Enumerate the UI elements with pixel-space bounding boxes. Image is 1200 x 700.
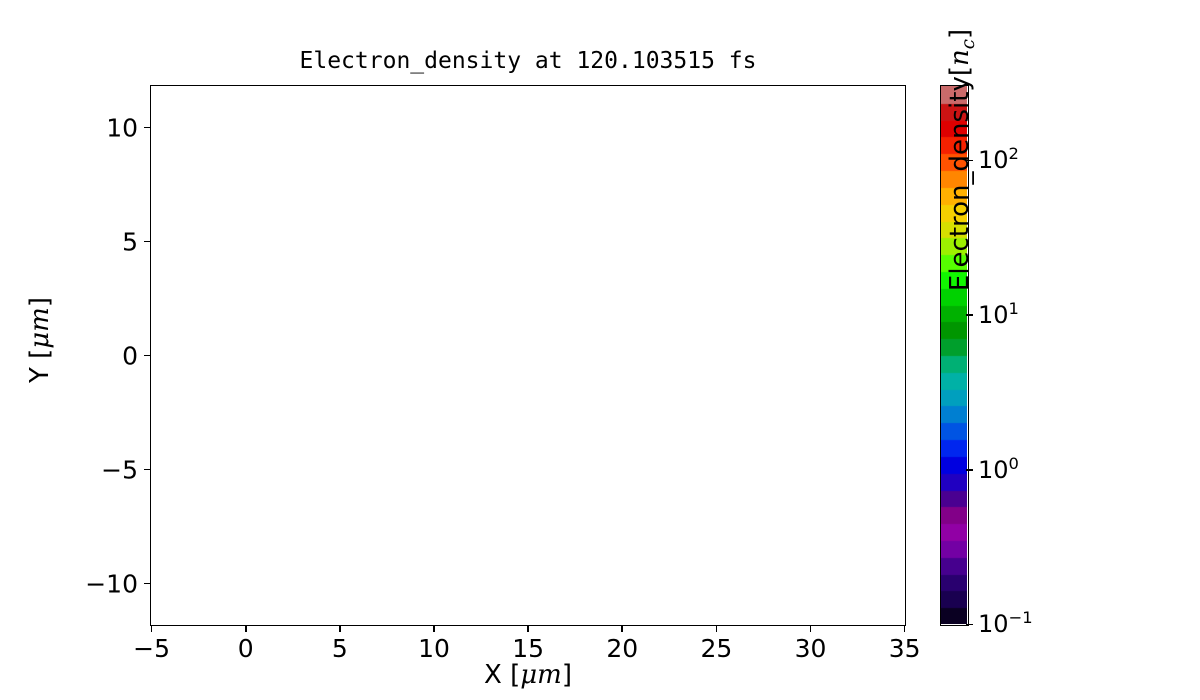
x-tick-label: 5 xyxy=(332,634,348,663)
y-tick-label: 10 xyxy=(20,113,138,142)
x-tick-label: 25 xyxy=(700,634,732,663)
y-tick-mark xyxy=(144,127,151,129)
x-tick-mark xyxy=(716,625,718,632)
x-tick-label: −5 xyxy=(133,634,170,663)
colorbar-tick-label: 100 xyxy=(978,456,1019,484)
main-plot-area[interactable] xyxy=(150,85,906,626)
y-axis-label: Y [μm] xyxy=(25,240,55,440)
y-tick-mark xyxy=(144,469,151,471)
x-tick-label: 15 xyxy=(512,634,544,663)
colorbar-label: Electron_density[nc] xyxy=(945,0,975,370)
y-tick-mark xyxy=(144,583,151,585)
x-tick-mark xyxy=(810,625,812,632)
x-tick-mark xyxy=(621,625,623,632)
y-tick-mark xyxy=(144,355,151,357)
colorbar-tick-mark xyxy=(966,624,973,626)
x-tick-label: 20 xyxy=(606,634,638,663)
colorbar-tick-label: 101 xyxy=(978,301,1019,329)
colorbar-tick-label: 102 xyxy=(978,146,1019,174)
x-tick-mark xyxy=(527,625,529,632)
colorbar-tick-label: 10−1 xyxy=(978,610,1033,638)
page-title: Electron_density at 120.103515 fs xyxy=(150,48,906,74)
y-tick-label: −10 xyxy=(20,569,138,598)
x-tick-mark xyxy=(904,625,906,632)
x-tick-label: 30 xyxy=(795,634,827,663)
x-tick-mark xyxy=(433,625,435,632)
x-tick-mark xyxy=(245,625,247,632)
x-tick-label: 35 xyxy=(889,634,921,663)
x-tick-label: 0 xyxy=(238,634,254,663)
colorbar-tick-mark xyxy=(966,469,973,471)
y-tick-label: −5 xyxy=(20,455,138,484)
x-tick-label: 10 xyxy=(418,634,450,663)
x-tick-mark xyxy=(151,625,153,632)
x-tick-mark xyxy=(339,625,341,632)
figure-canvas: Electron_density at 120.103515 fs −50510… xyxy=(0,0,1200,700)
y-tick-mark xyxy=(144,241,151,243)
electron-density-heatmap xyxy=(151,86,904,624)
x-axis-label: X [μm] xyxy=(150,660,906,690)
